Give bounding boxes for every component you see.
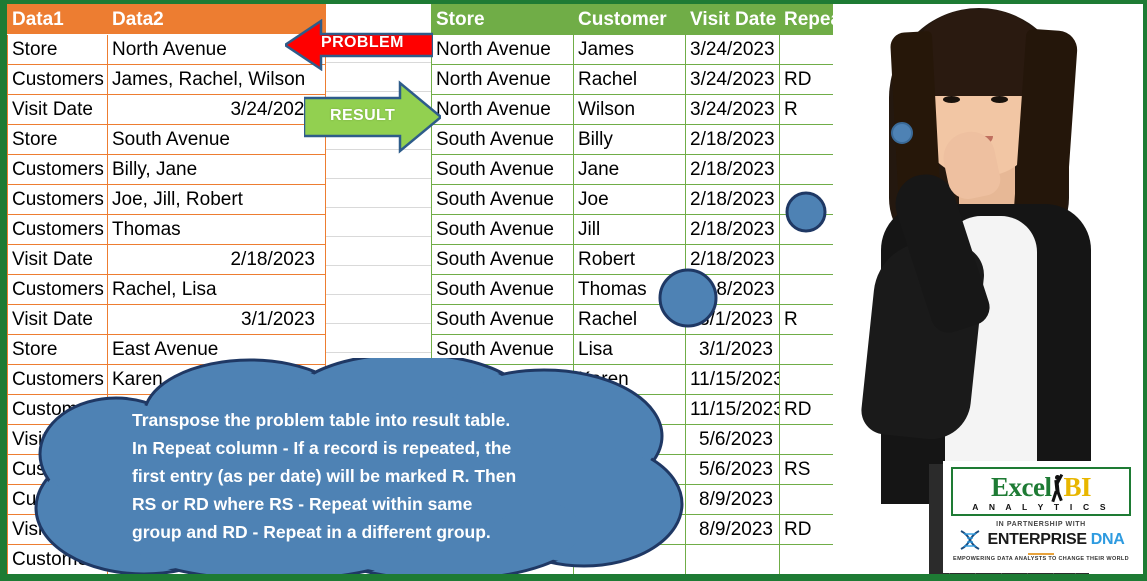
jumping-person-icon bbox=[1050, 474, 1064, 502]
table-row[interactable]: Visit Date3/24/2023 bbox=[8, 95, 326, 125]
result-cell-repeat[interactable] bbox=[780, 155, 840, 185]
result-cell-customer[interactable]: Jane bbox=[574, 155, 686, 185]
result-cell-repeat[interactable]: RD bbox=[780, 65, 840, 95]
result-cell-repeat[interactable]: RS bbox=[780, 455, 840, 485]
problem-cell-data1[interactable]: Store bbox=[8, 35, 108, 65]
result-cell-store[interactable]: South Avenue bbox=[432, 155, 574, 185]
result-cell-store[interactable]: South Avenue bbox=[432, 275, 574, 305]
problem-cell-data2[interactable]: 2/18/2023 bbox=[108, 245, 326, 275]
table-row[interactable]: CustomersJoe, Jill, Robert bbox=[8, 185, 326, 215]
result-cell-customer[interactable]: Wilson bbox=[574, 95, 686, 125]
result-cell-customer[interactable]: James bbox=[574, 35, 686, 65]
callout-tail-bubbles bbox=[640, 190, 850, 340]
logo-bi-text: BI bbox=[1063, 472, 1091, 503]
result-cell-repeat[interactable]: RD bbox=[780, 515, 840, 545]
problem-header-data1: Data1 bbox=[8, 5, 108, 35]
result-cell-store[interactable]: North Avenue bbox=[432, 95, 574, 125]
logo-dna-text: DNA bbox=[1091, 531, 1125, 549]
result-cell-repeat[interactable] bbox=[780, 125, 840, 155]
dna-helix-icon bbox=[957, 529, 983, 551]
table-row[interactable]: South AvenueJane2/18/2023 bbox=[432, 155, 840, 185]
problem-cell-data2[interactable]: Joe, Jill, Robert bbox=[108, 185, 326, 215]
logo-excel-text: Excel bbox=[991, 472, 1051, 503]
logo-tagline: EMPOWERING DATA ANALYSTS TO CHANGE THEIR… bbox=[951, 556, 1131, 562]
problem-cell-data2[interactable]: 3/1/2023 bbox=[108, 305, 326, 335]
result-cell-store[interactable]: South Avenue bbox=[432, 215, 574, 245]
table-row[interactable]: CustomersThomas bbox=[8, 215, 326, 245]
result-arrow-label: RESULT bbox=[330, 107, 395, 125]
result-cell-store[interactable]: South Avenue bbox=[432, 185, 574, 215]
table-row[interactable]: North AvenueWilson3/24/2023R bbox=[432, 95, 840, 125]
problem-cell-data1[interactable]: Visit Date bbox=[8, 245, 108, 275]
logo-enterprise-text: ENTERPRISE bbox=[987, 531, 1086, 549]
eye-right bbox=[991, 96, 1008, 103]
table-row[interactable]: StoreSouth Avenue bbox=[8, 125, 326, 155]
cloud-text-line-3: first entry (as per date) will be marked… bbox=[132, 462, 672, 490]
result-cell-visit-date[interactable]: 3/24/2023 bbox=[686, 95, 780, 125]
problem-arrow: PROBLEM bbox=[285, 19, 433, 71]
problem-cell-data1[interactable]: Visit Date bbox=[8, 305, 108, 335]
result-header-visit-date: Visit Date bbox=[686, 5, 780, 35]
problem-arrow-label: PROBLEM bbox=[321, 34, 404, 52]
cloud-text-line-5: group and RD - Repeat in a different gro… bbox=[132, 518, 672, 546]
table-row[interactable]: CustomersBilly, Jane bbox=[8, 155, 326, 185]
excelbi-logo: Excel BI A N A L Y T I C S bbox=[951, 467, 1131, 516]
eye-left bbox=[943, 96, 960, 103]
result-table-header-row: Store Customer Visit Date Repeat bbox=[432, 5, 840, 35]
problem-cell-data1[interactable]: Customers bbox=[8, 155, 108, 185]
problem-cell-data2[interactable]: 3/24/2023 bbox=[108, 95, 326, 125]
problem-cell-data2[interactable]: South Avenue bbox=[108, 125, 326, 155]
cloud-callout-text: Transpose the problem table into result … bbox=[132, 406, 672, 546]
problem-cell-data1[interactable]: Customers bbox=[8, 215, 108, 245]
problem-cell-data2[interactable]: Billy, Jane bbox=[108, 155, 326, 185]
result-cell-repeat[interactable] bbox=[780, 35, 840, 65]
cloud-callout: Transpose the problem table into result … bbox=[24, 358, 704, 576]
table-row[interactable]: Visit Date3/1/2023 bbox=[8, 305, 326, 335]
result-header-customer: Customer bbox=[574, 5, 686, 35]
table-row[interactable]: CustomersJames, Rachel, Wilson bbox=[8, 65, 326, 95]
frame-right bbox=[1143, 0, 1147, 581]
result-cell-store[interactable]: North Avenue bbox=[432, 35, 574, 65]
result-cell-visit-date[interactable]: 3/24/2023 bbox=[686, 35, 780, 65]
result-cell-visit-date[interactable]: 2/18/2023 bbox=[686, 125, 780, 155]
result-header-repeat: Repeat bbox=[780, 5, 840, 35]
problem-cell-data1[interactable]: Customers bbox=[8, 65, 108, 95]
table-row[interactable]: CustomersRachel, Lisa bbox=[8, 275, 326, 305]
result-cell-repeat[interactable] bbox=[780, 545, 840, 575]
problem-cell-data1[interactable]: Store bbox=[8, 125, 108, 155]
result-cell-repeat[interactable]: R bbox=[780, 95, 840, 125]
result-cell-store[interactable]: South Avenue bbox=[432, 245, 574, 275]
table-row[interactable]: StoreNorth Avenue bbox=[8, 35, 326, 65]
table-row[interactable]: Visit Date2/18/2023 bbox=[8, 245, 326, 275]
result-cell-visit-date[interactable]: 3/24/2023 bbox=[686, 65, 780, 95]
cloud-text-line-1: Transpose the problem table into result … bbox=[132, 406, 672, 434]
partnership-label: IN PARTNERSHIP WITH bbox=[951, 521, 1131, 528]
earring-icon bbox=[891, 122, 913, 144]
enterprise-dna-logo: ENTERPRISE DNA bbox=[951, 529, 1131, 551]
problem-cell-data1[interactable]: Customers bbox=[8, 275, 108, 305]
problem-table-header-row: Data1 Data2 bbox=[8, 5, 326, 35]
result-cell-customer[interactable]: Billy bbox=[574, 125, 686, 155]
result-header-store: Store bbox=[432, 5, 574, 35]
table-row[interactable]: North AvenueJames3/24/2023 bbox=[432, 35, 840, 65]
frame-top bbox=[0, 0, 1147, 4]
screenshot-canvas: Data1 Data2 StoreNorth AvenueCustomersJa… bbox=[0, 0, 1147, 581]
result-cell-store[interactable]: North Avenue bbox=[432, 65, 574, 95]
table-row[interactable]: North AvenueRachel3/24/2023RD bbox=[432, 65, 840, 95]
cloud-text-line-4: RS or RD where RS - Repeat within same bbox=[132, 490, 672, 518]
result-cell-repeat[interactable]: RD bbox=[780, 395, 840, 425]
frame-bottom bbox=[0, 574, 1147, 581]
problem-cell-data2[interactable]: Rachel, Lisa bbox=[108, 275, 326, 305]
frame-left bbox=[0, 0, 7, 581]
problem-cell-data1[interactable]: Visit Date bbox=[8, 95, 108, 125]
result-cell-store[interactable]: South Avenue bbox=[432, 305, 574, 335]
result-cell-repeat[interactable] bbox=[780, 485, 840, 515]
result-cell-repeat[interactable] bbox=[780, 425, 840, 455]
logo-block: Excel BI A N A L Y T I C S IN PARTNERSHI… bbox=[943, 461, 1139, 573]
logo-divider bbox=[1028, 553, 1054, 555]
result-cell-visit-date[interactable]: 2/18/2023 bbox=[686, 155, 780, 185]
cloud-text-line-2: In Repeat column - If a record is repeat… bbox=[132, 434, 672, 462]
result-cell-customer[interactable]: Rachel bbox=[574, 65, 686, 95]
problem-cell-data2[interactable]: Thomas bbox=[108, 215, 326, 245]
result-arrow: RESULT bbox=[304, 79, 441, 154]
result-cell-store[interactable]: South Avenue bbox=[432, 125, 574, 155]
table-row[interactable]: South AvenueBilly2/18/2023 bbox=[432, 125, 840, 155]
problem-cell-data1[interactable]: Customers bbox=[8, 185, 108, 215]
result-cell-repeat[interactable] bbox=[780, 365, 840, 395]
